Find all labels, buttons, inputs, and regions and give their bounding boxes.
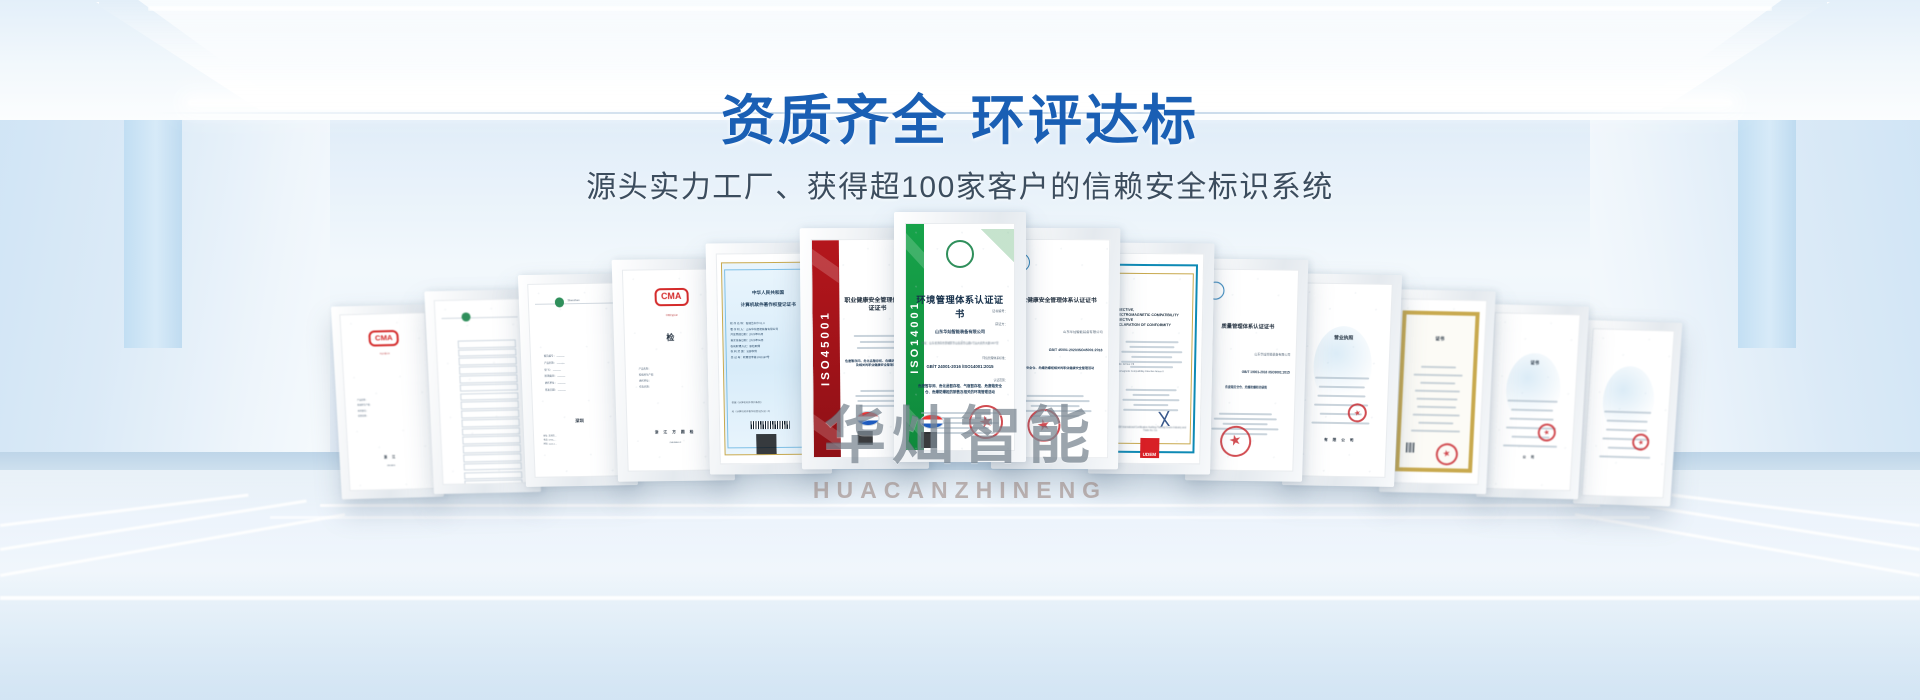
certificate-body-lines <box>1595 403 1657 466</box>
certificate-title: 质量管理体系认证证书 <box>1205 323 1292 331</box>
certificate-holder-label: 获证方： <box>912 321 1007 326</box>
table-row <box>458 348 516 357</box>
ce-annex: Module: Annex VII <box>1113 362 1190 366</box>
ukas-logo-icon <box>857 411 880 426</box>
certificate-scope: 危废箱安全仓、危爆防爆柜的销售 <box>1204 385 1289 390</box>
copyright-fields: 软 件 名 称：智能告知卡V1.0著 作 权 人：山东华灿智能装备有限公司开发完… <box>730 321 809 361</box>
barcode <box>1406 442 1415 453</box>
report-field-labels: 产品名称：检验样生产者：委托单位：任务名称： <box>357 397 422 420</box>
certificate-mat: ★ <box>1581 327 1674 498</box>
page-title: 资质齐全环评达标 <box>0 92 1920 150</box>
copyright-footnote-2: 和《计算机软件著作权登记办法》的 <box>732 408 810 413</box>
table-row <box>463 453 521 462</box>
iso-side-band: ISO45001 <box>811 239 840 457</box>
title-part-2: 环评达标 <box>971 91 1199 151</box>
certificate-document: 证书 ★ <box>1389 298 1486 483</box>
certificate-holder: 山东华灿智能装备有限公司 <box>912 329 1007 335</box>
certificate-frame[interactable]: ISO14001 环境管理体系认证证书 证书编号： 获证方： 山东华灿智能装备有… <box>894 212 1026 462</box>
title-part-1: 资质齐全 <box>721 91 949 151</box>
certificate-title: 检 <box>629 331 716 343</box>
certificate-mat: ISO14001 环境管理体系认证证书 证书编号： 获证方： 山东华灿智能装备有… <box>905 223 1015 451</box>
certificate-issuer: 浙 江 方 圆 检 <box>632 429 719 435</box>
certificate-scope: 危废暂存间、危化品暂存柜、气瓶暂存柜、危废箱安全仓、危爆防爆柜的销售及相关的环境… <box>915 384 1006 394</box>
table-row <box>461 418 519 427</box>
cma-logo-caption: 中国计量认证 <box>624 313 720 317</box>
certificate-mat: 证书 公 司 ★ <box>1484 312 1580 491</box>
report-fields: 报告编号： ______产品名称： ______型 号： ______ 检测类别… <box>544 353 617 395</box>
certificate-mat: CMA 中国计量认证 产品名称：检验样生产者：委托单位：任务名称： 浙 江 ZH… <box>339 312 435 491</box>
copyright-footnote-1: 根据《计算机软件保护条例》 <box>732 400 810 405</box>
table-row <box>459 383 517 392</box>
certificate-title: 营业执照 <box>1303 333 1384 341</box>
table-row <box>463 462 521 471</box>
certificate-frame[interactable]: ★ <box>1573 319 1682 505</box>
certificate-address: 地址：山东省济南市历城区华山街道华山路1号远大商务大厦1607室 <box>912 342 1007 345</box>
table-row <box>460 391 518 400</box>
certificate-scope-label: 认证范围： <box>912 378 1007 382</box>
table-row <box>461 426 519 435</box>
banner-stage: 资质齐全环评达标 源头实力工厂、获得超100家客户的信赖安全标识系统 CMA 中… <box>0 0 1920 700</box>
certificate-document: ★ <box>1582 328 1673 497</box>
certificate-document <box>434 298 531 483</box>
report-field-labels: 产品名称：检验样生产者：委托单位：任务名称： <box>639 365 713 391</box>
certificate-issuer-en: ZHEJIANG F <box>632 441 718 444</box>
certificate-standard-label: 环境管理体系标准： <box>912 356 1007 360</box>
table-row <box>462 435 520 444</box>
issuer-contact: 地址: 深圳市…电话: 0755-…网址: www.s… <box>543 433 619 447</box>
ce-annex-2: Electromagnetic Compatibility Directive … <box>1113 370 1190 374</box>
qr-code <box>921 432 937 448</box>
org-logo-icon <box>555 298 565 307</box>
org-name: Shenzhen <box>567 299 579 302</box>
org-logo-icon <box>461 312 470 321</box>
certificate-body-lines <box>1410 359 1463 438</box>
certificate-title: DIRECTIVE,ELECTROMAGNETIC COMPATIBILITY … <box>1114 308 1192 328</box>
table-row <box>457 339 515 348</box>
ce-issuer: UDEM International Certification Auditin… <box>1112 427 1189 434</box>
certificate-document: 营业执照 有 限 公 司 ★ <box>1292 283 1391 476</box>
certificate-title: 中华人民共和国 <box>727 289 808 296</box>
copyright-field: 登 记 号：软著登字第1033187号 <box>731 355 809 361</box>
barcode <box>751 421 790 430</box>
certificate-title: 证书 <box>1405 335 1476 343</box>
certificate-document: CMA 中国计量认证 产品名称：检验样生产者：委托单位：任务名称： 浙 江 ZH… <box>340 313 434 490</box>
headings: 资质齐全环评达标 源头实力工厂、获得超100家客户的信赖安全标识系统 <box>0 0 1920 206</box>
certificate-body-lines <box>1307 370 1376 432</box>
ukas-logo-icon <box>920 414 944 429</box>
table-row <box>464 479 522 483</box>
certificate-subtitle: 计算机软件著作权登记证书 <box>728 302 809 309</box>
certificate-mat: 证书 ★ <box>1388 297 1487 484</box>
certificate-body-lines <box>1499 392 1563 454</box>
signature-graphic <box>1148 409 1186 427</box>
cnas-logo-icon <box>946 240 974 268</box>
certificate-standard: GB/T 24001-2016 /ISO14001:2015 <box>912 364 1007 369</box>
table-row <box>460 400 518 409</box>
cma-logo-icon: CMA <box>368 330 399 347</box>
table-row <box>464 470 522 479</box>
table-row <box>462 444 520 453</box>
iso-band-label: ISO45001 <box>819 310 832 386</box>
report-table <box>457 339 523 484</box>
table-row <box>459 374 517 383</box>
page-subtitle: 源头实力工厂、获得超100家客户的信赖安全标识系统 <box>0 162 1920 206</box>
certificate-document: ISO14001 环境管理体系认证证书 证书编号： 获证方： 山东华灿智能装备有… <box>906 224 1014 450</box>
cma-logo-icon: CMA <box>654 287 689 306</box>
udem-mark-icon: UDEM <box>1140 438 1159 458</box>
certificate-number: 证书编号： <box>917 308 1008 313</box>
certificate-standard: GB/T 19001-2016 /ISO9001:2015 <box>1203 369 1290 374</box>
certificate-title: 环境管理体系认证证书 <box>912 292 1007 320</box>
table-row <box>461 409 519 418</box>
qr-code <box>756 434 777 454</box>
table-row <box>458 356 516 365</box>
certificate-mat <box>433 297 532 484</box>
certificate-document: 证书 公 司 ★ <box>1486 313 1580 490</box>
certificate-holder: 山东华灿智能装备有限公司 <box>1204 351 1291 356</box>
qr-code <box>858 430 873 444</box>
table-row <box>459 365 517 374</box>
